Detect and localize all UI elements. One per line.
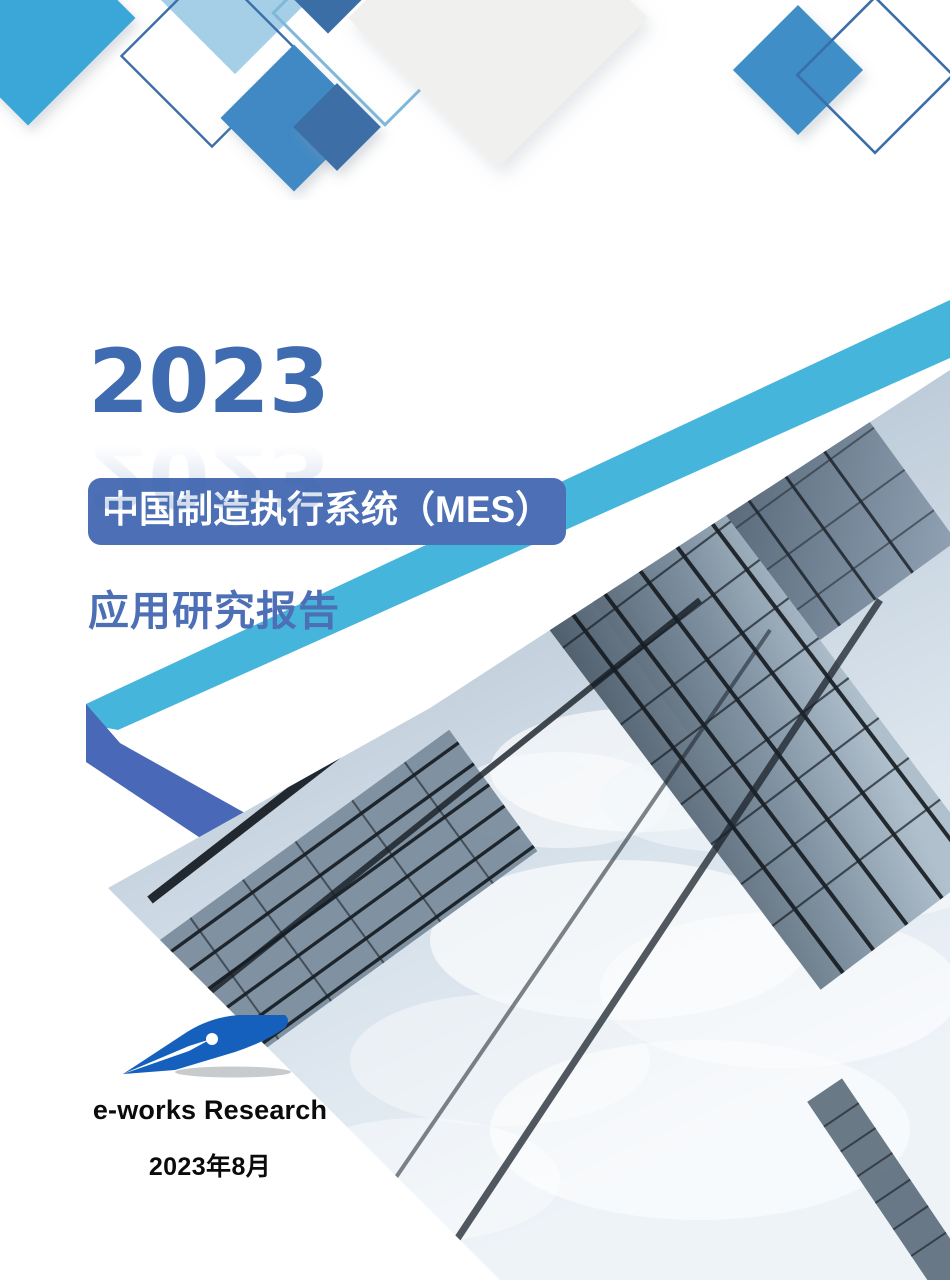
title-block: 2023 2023 中国制造执行系统（MES） 应用研究报告: [88, 338, 628, 634]
diamond-blue-right: [733, 5, 863, 135]
diamond-cyan-large-left: [0, 0, 135, 125]
report-subtitle: 应用研究报告: [88, 589, 628, 634]
diamond-pattern-svg: [0, 0, 950, 200]
report-date: 2023年8月: [0, 1147, 420, 1183]
footer-block: e-works Research 2023年8月: [0, 1008, 420, 1183]
header-decoration: [0, 0, 950, 200]
diamond-white-large: [348, 0, 648, 168]
year-wrap: 2023 2023: [88, 338, 628, 478]
organization-name: e-works Research: [0, 1095, 420, 1126]
report-cover-page: 2023 2023 中国制造执行系统（MES） 应用研究报告 e-works R…: [0, 0, 950, 1280]
main-title-badge: 中国制造执行系统（MES）: [88, 478, 566, 545]
pen-nib-icon: [115, 1008, 305, 1086]
year-heading: 2023: [88, 338, 628, 426]
